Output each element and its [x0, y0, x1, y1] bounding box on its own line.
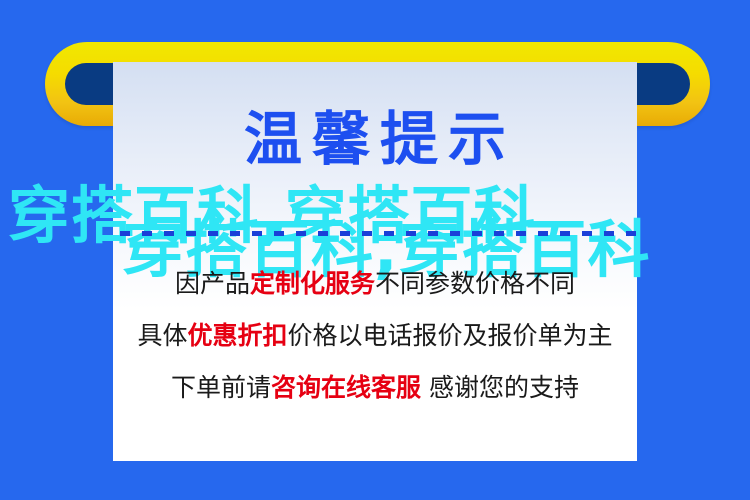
- promo-notice-poster: 温馨提示 穿搭百科,穿搭百科 穿搭百科,穿搭百科 因产品定制化服务不同参数价格不…: [0, 0, 750, 500]
- highlighted-text: 优惠折扣: [187, 321, 287, 350]
- highlighted-text: 咨询在线客服: [271, 373, 421, 402]
- plain-text: 具体: [137, 321, 187, 350]
- notice-line: 具体优惠折扣价格以电话报价及报价单为主: [113, 310, 637, 362]
- plain-text: 下单前请: [171, 373, 271, 402]
- dotted-divider: [120, 231, 640, 236]
- plain-text: 不同参数价格不同: [375, 269, 575, 298]
- plain-text: 因产品: [175, 269, 250, 298]
- notice-line: 下单前请咨询在线客服 感谢您的支持: [113, 362, 637, 414]
- notice-body: 因产品定制化服务不同参数价格不同具体优惠折扣价格以电话报价及报价单为主下单前请咨…: [113, 258, 637, 414]
- plain-text: 价格以电话报价及报价单为主: [288, 321, 613, 350]
- plain-text: 感谢您的支持: [421, 373, 579, 402]
- page-title: 温馨提示: [113, 108, 637, 170]
- highlighted-text: 定制化服务: [250, 269, 375, 298]
- notice-line: 因产品定制化服务不同参数价格不同: [113, 258, 637, 310]
